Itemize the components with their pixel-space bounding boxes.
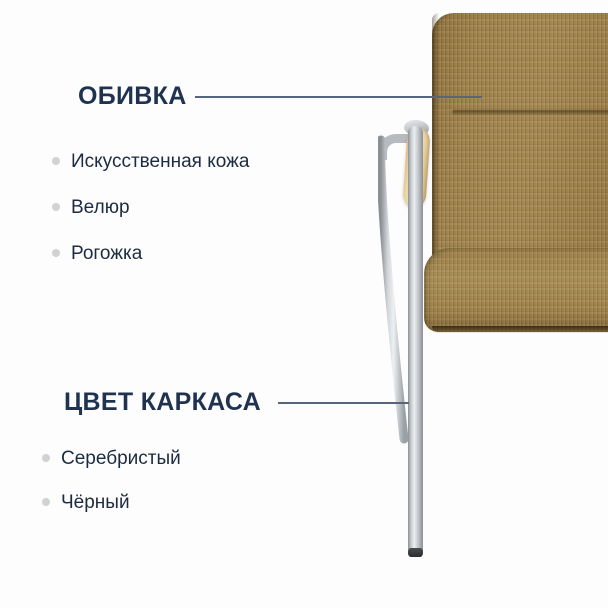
heading-frame-color: ЦВЕТ КАРКАСА — [64, 390, 261, 415]
list-item: Велюр — [52, 184, 249, 230]
bullet-dot-icon — [52, 157, 60, 165]
heading-upholstery: ОБИВКА — [78, 84, 187, 109]
metal-leg — [408, 126, 423, 556]
backrest-seam — [452, 110, 608, 115]
list-item-label: Чёрный — [61, 493, 130, 512]
leader-line-upholstery — [195, 96, 482, 98]
list-item-label: Искусственная кожа — [71, 152, 249, 171]
seat-underside-shadow — [432, 326, 608, 333]
bullet-dot-icon — [52, 203, 60, 211]
list-item-label: Серебристый — [61, 449, 181, 468]
bullet-dot-icon — [42, 498, 50, 506]
bullet-dot-icon — [52, 249, 60, 257]
product-feature-callout-image: ОБИВКА Искусственная кожа Велюр Рогожка … — [0, 0, 608, 608]
list-upholstery-options: Искусственная кожа Велюр Рогожка — [52, 138, 249, 276]
leg-foot-glide — [408, 548, 423, 557]
backrest-fabric — [432, 13, 608, 255]
list-item: Искусственная кожа — [52, 138, 249, 184]
list-item: Чёрный — [42, 480, 181, 524]
seat-cushion-fabric — [424, 248, 608, 332]
list-frame-color-options: Серебристый Чёрный — [42, 436, 181, 524]
list-item: Рогожка — [52, 230, 249, 276]
leader-line-frame-color — [278, 402, 409, 404]
list-item-label: Велюр — [71, 198, 130, 217]
list-item-label: Рогожка — [71, 244, 142, 263]
backrest-left-edge-shadow — [432, 13, 439, 255]
bullet-dot-icon — [42, 454, 50, 462]
list-item: Серебристый — [42, 436, 181, 480]
